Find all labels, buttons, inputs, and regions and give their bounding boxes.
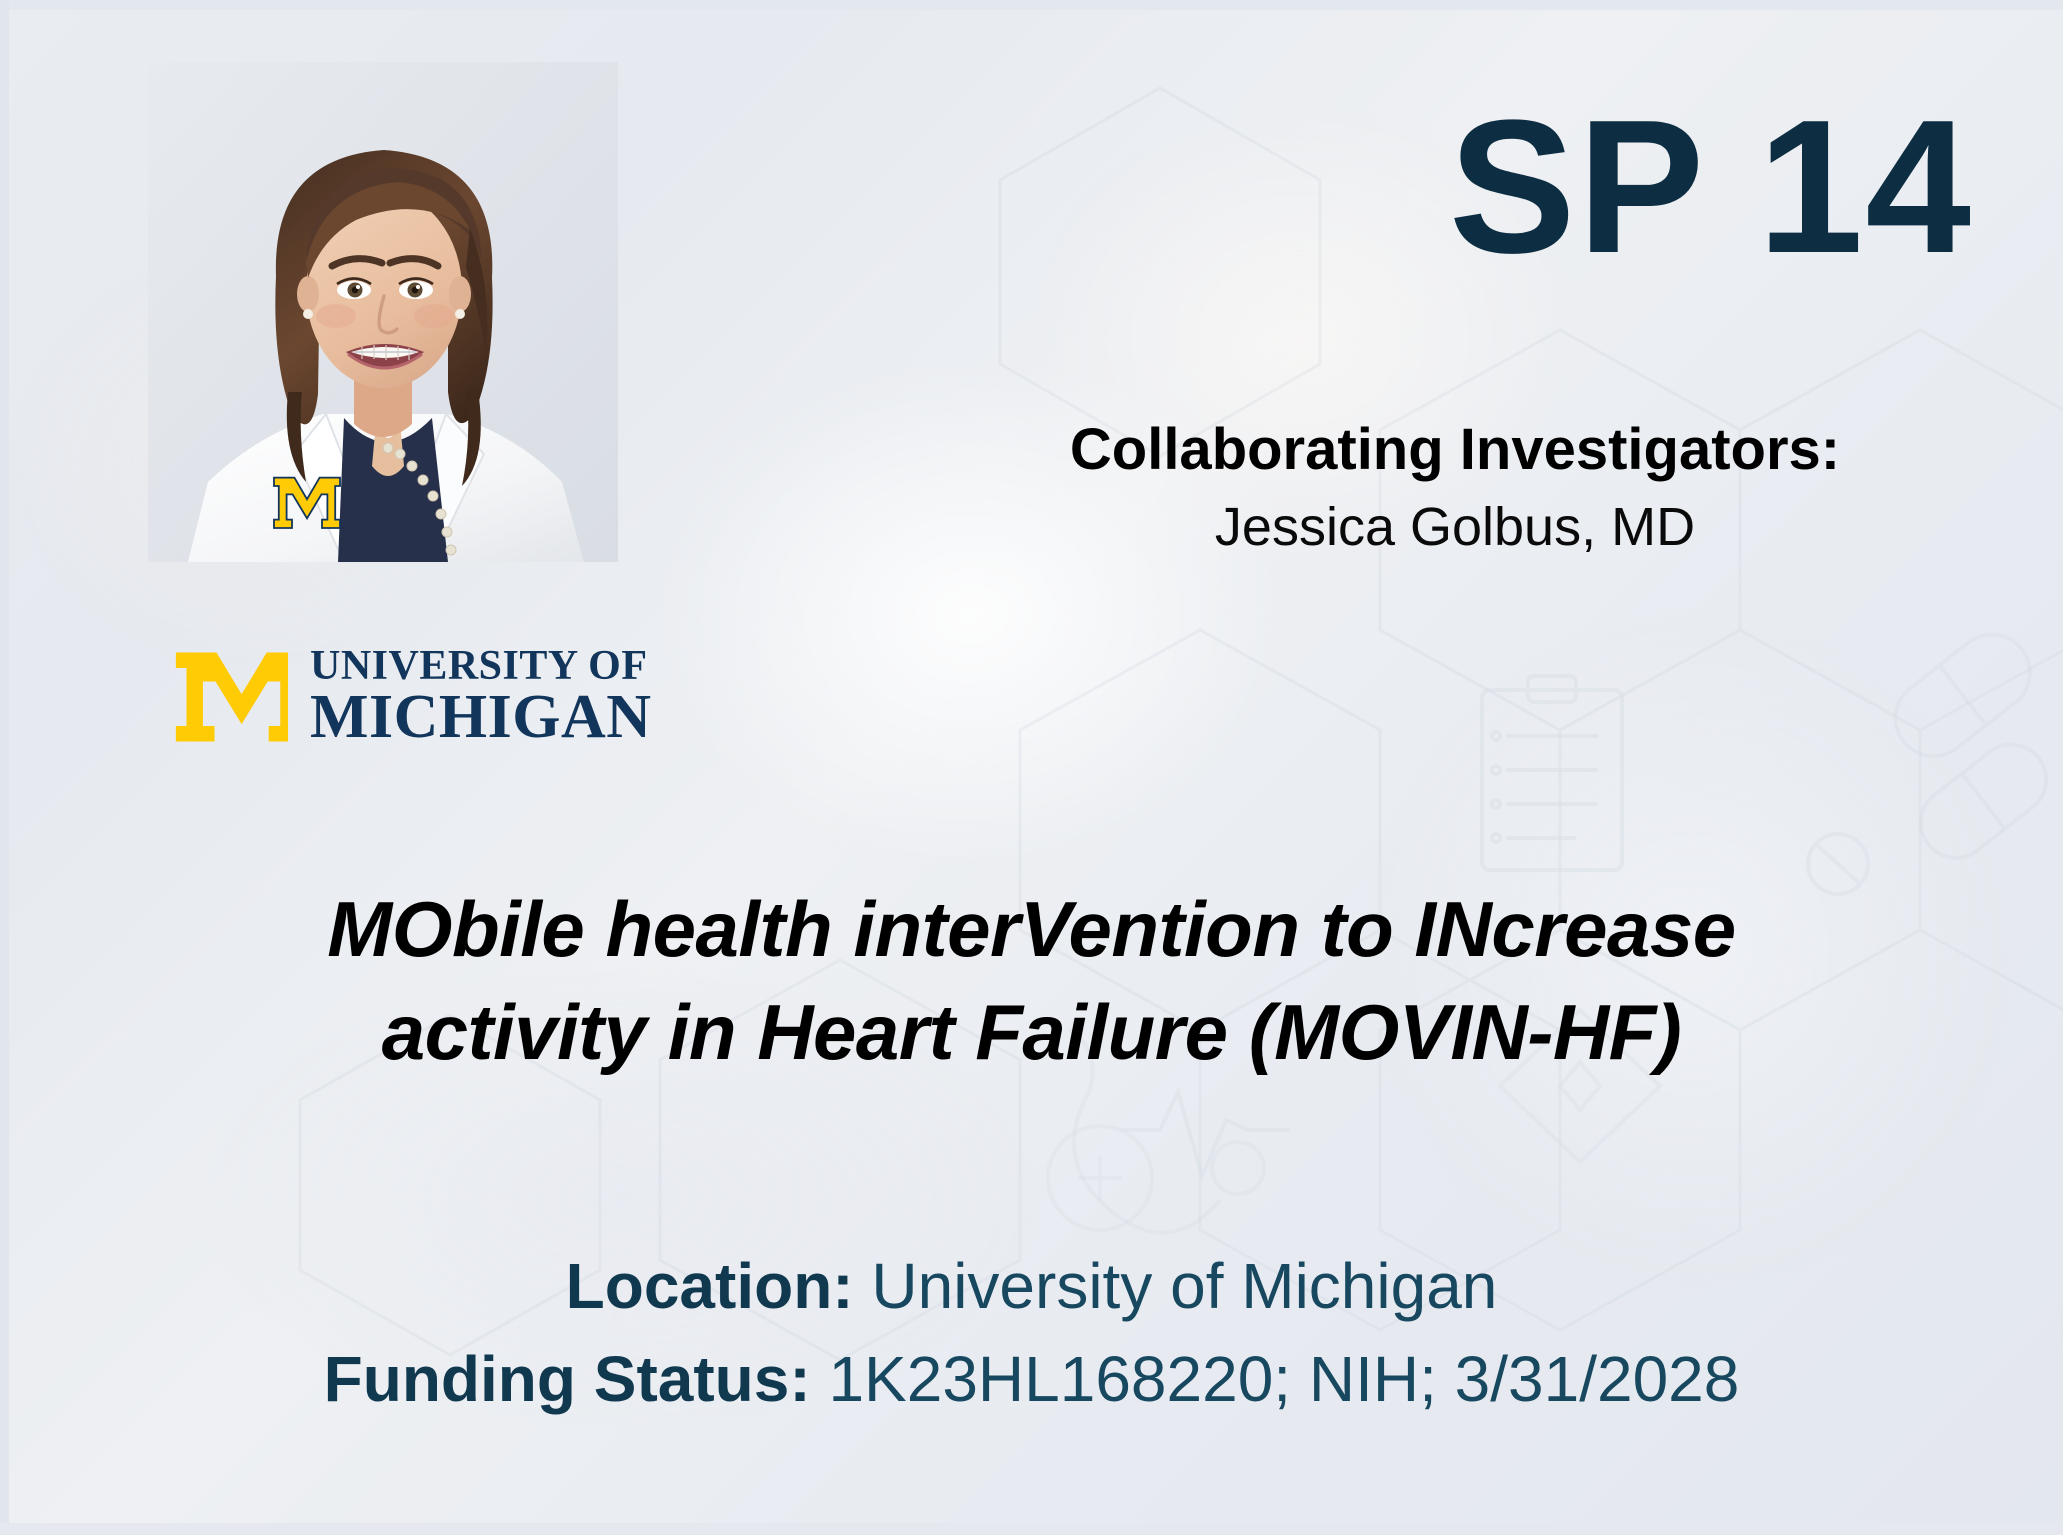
study-title-line-1: MObile health interVention to INcrease xyxy=(70,878,1993,981)
collaborating-investigators-block: Collaborating Investigators: Jessica Gol… xyxy=(935,418,1975,560)
poster-number: SP 14 xyxy=(1449,92,1973,282)
top-edge-strip xyxy=(0,0,2063,10)
location-row: Location: University of Michigan xyxy=(60,1240,2003,1333)
location-value: University of Michigan xyxy=(871,1250,1497,1322)
funding-row: Funding Status: 1K23HL168220; NIH; 3/31/… xyxy=(60,1333,2003,1426)
location-label: Location: xyxy=(566,1250,854,1322)
investigator-headshot-photo xyxy=(148,62,618,562)
poster-slide: UNIVERSITY OF MICHIGAN SP 14 Collaborati… xyxy=(0,0,2063,1535)
funding-status-label: Funding Status: xyxy=(324,1343,811,1415)
investigator-name-list: Jessica Golbus, MD xyxy=(935,495,1975,560)
study-meta-block: Location: University of Michigan Funding… xyxy=(60,1240,2003,1426)
logo-line-michigan: MICHIGAN xyxy=(310,687,652,748)
logo-line-university-of: UNIVERSITY OF xyxy=(310,646,652,687)
left-edge-strip xyxy=(0,0,9,1535)
university-of-michigan-logo: UNIVERSITY OF MICHIGAN xyxy=(172,645,632,749)
investigator-name: Jessica Golbus, MD xyxy=(935,495,1975,560)
study-title-line-2: activity in Heart Failure (MOVIN-HF) xyxy=(70,981,1993,1084)
bottom-edge-strip xyxy=(0,1523,2063,1535)
collaborating-investigators-label: Collaborating Investigators: xyxy=(935,418,1975,483)
study-title: MObile health interVention to INcrease a… xyxy=(70,878,1993,1084)
funding-status-value: 1K23HL168220; NIH; 3/31/2028 xyxy=(828,1343,1739,1415)
block-m-icon xyxy=(172,648,288,746)
university-of-michigan-wordmark: UNIVERSITY OF MICHIGAN xyxy=(310,646,652,748)
